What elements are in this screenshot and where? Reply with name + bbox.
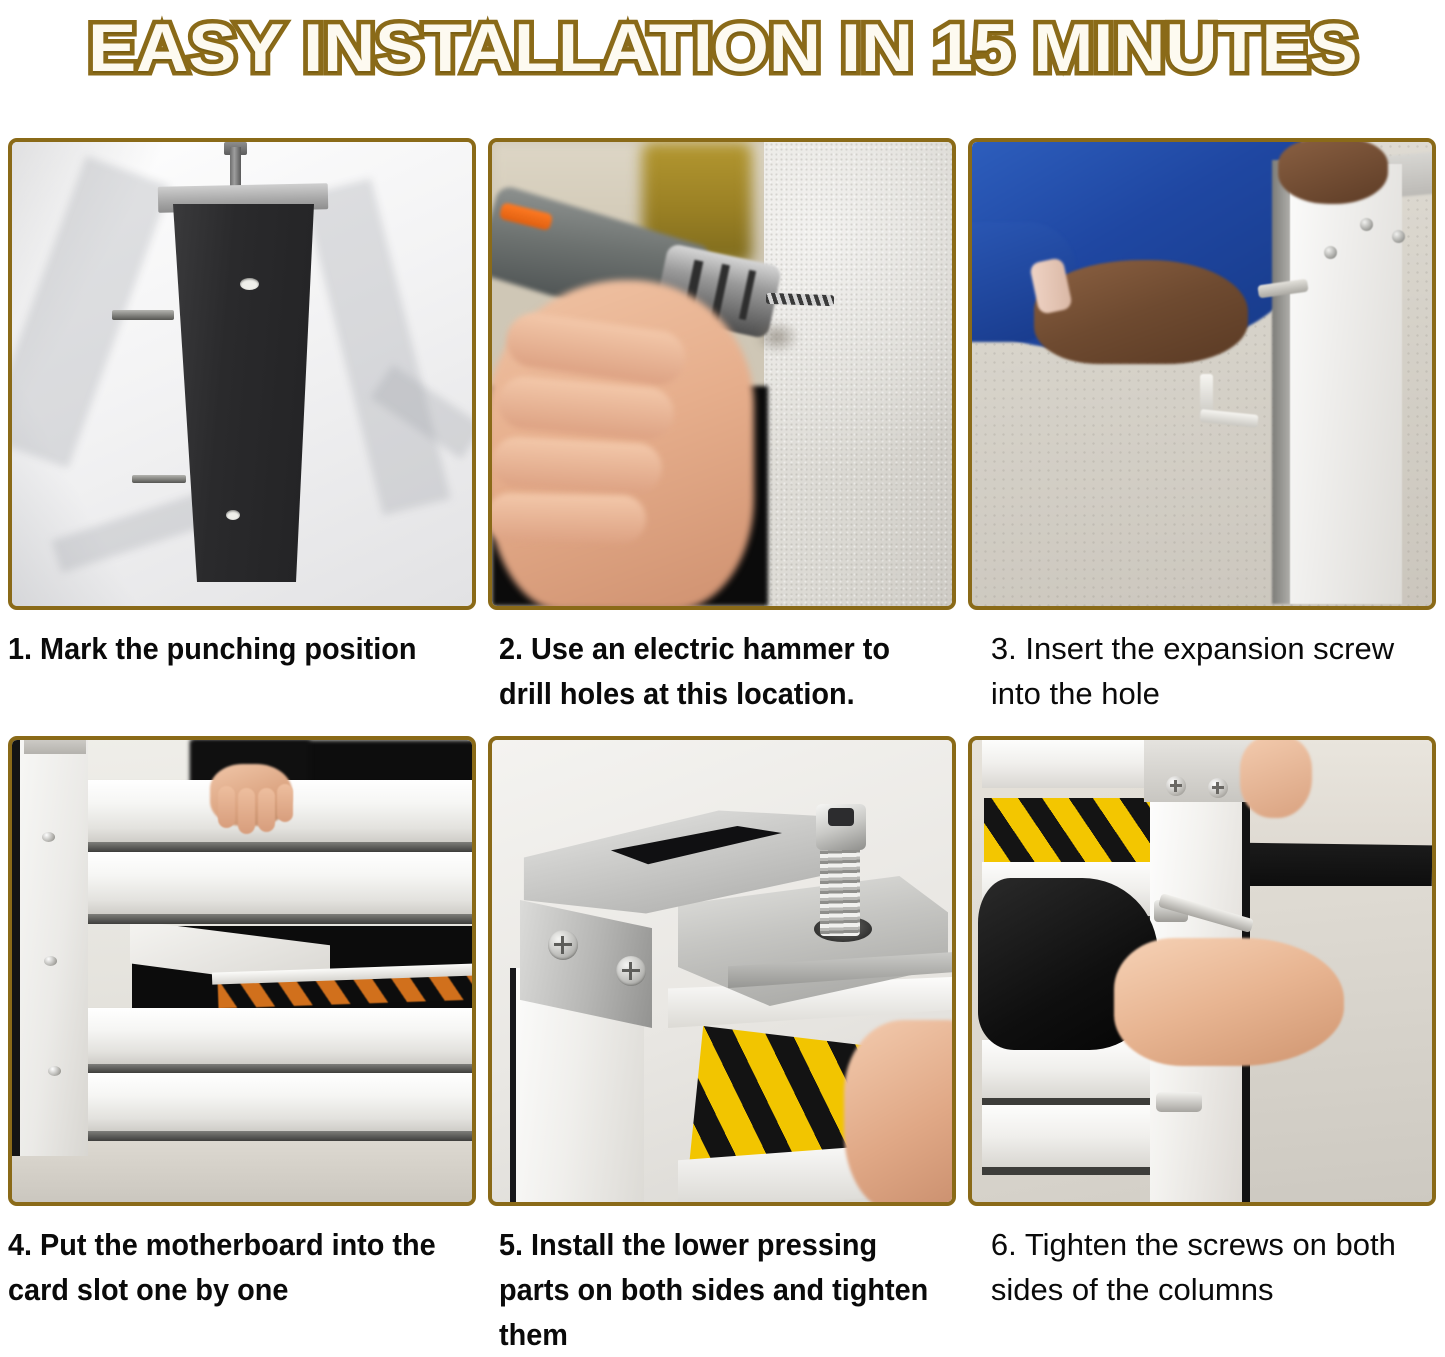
hex-socket — [828, 808, 854, 826]
column-top-bracket — [1144, 740, 1252, 802]
baseboard — [1234, 843, 1432, 890]
finger — [492, 436, 663, 495]
step-4-caption: 4. Put the motherboard into the card slo… — [8, 1206, 454, 1357]
captions-row-bottom: 4. Put the motherboard into the card slo… — [8, 1206, 1437, 1357]
side-bolt-lower — [132, 475, 186, 483]
step-5-photo-install-lower-pressing-parts — [492, 740, 952, 1202]
hand-supporting-part — [844, 1020, 952, 1202]
column-top-bracket — [24, 740, 86, 754]
drill-dust — [754, 320, 800, 354]
lower-bolt — [1156, 1092, 1202, 1112]
board-slot-gap — [78, 914, 472, 924]
step-1-photo-frame — [8, 138, 476, 610]
column-screw — [1324, 246, 1337, 259]
step-2-photo-drill-holes — [492, 142, 952, 606]
captions-row-top: 1. Mark the punching position 2. Use an … — [8, 610, 1437, 736]
step-5-photo-frame — [488, 736, 956, 1206]
drill-bit — [766, 293, 834, 306]
step-6-photo-tighten-column-screws — [972, 740, 1432, 1202]
board-slot-gap — [78, 1064, 472, 1073]
mounting-hole-upper — [240, 278, 259, 290]
board-slot-gap — [78, 1131, 472, 1141]
step-3-photo-insert-expansion-screw — [972, 142, 1432, 606]
column-screw — [1166, 776, 1186, 796]
side-bolt-upper — [112, 310, 174, 320]
board-plank — [982, 740, 1160, 788]
board-slot-gap — [78, 842, 472, 852]
steps-grid: 1. Mark the punching position 2. Use an … — [8, 138, 1437, 1357]
board-slot-gap — [982, 1167, 1160, 1175]
phillips-screw — [548, 930, 578, 960]
finger — [492, 493, 646, 544]
top-stud-shaft — [230, 147, 241, 189]
board-slot-gap — [982, 1098, 1160, 1105]
board-plank — [78, 852, 472, 914]
hazard-tape-yellow-black — [984, 798, 1152, 862]
hand-tightening-screws — [1114, 938, 1344, 1066]
step-1-photo-mark-punching-position — [12, 142, 472, 606]
second-hand — [1278, 142, 1388, 204]
phillips-screw — [616, 956, 646, 986]
step-6-cell — [968, 736, 1436, 1206]
allen-key — [1200, 374, 1262, 432]
step-2-photo-frame — [488, 138, 956, 610]
step-4-photo-frame — [8, 736, 476, 1206]
column-screw — [48, 1066, 61, 1076]
column-screw — [1360, 218, 1373, 231]
step-5-caption: 5. Install the lower pressing parts on b… — [499, 1206, 945, 1357]
step-3-caption: 3. Insert the expansion screw into the h… — [991, 610, 1437, 736]
finger — [258, 788, 275, 832]
step-6-photo-frame — [968, 736, 1436, 1206]
finger — [238, 788, 255, 834]
step-4-cell — [8, 736, 476, 1206]
board-plank — [982, 1105, 1160, 1167]
column-screw — [44, 956, 57, 966]
step-2-cell — [488, 138, 956, 610]
step-3-cell — [968, 138, 1436, 610]
finger — [277, 784, 293, 822]
board-plank — [78, 1073, 472, 1131]
steps-row-bottom — [8, 736, 1437, 1206]
installation-guide-page: EASY INSTALLATION IN 15 MINUTES — [0, 0, 1445, 1352]
white-column — [1290, 164, 1402, 604]
board-plank — [78, 1008, 472, 1064]
second-hand — [1240, 740, 1312, 818]
step-5-cell — [488, 736, 956, 1206]
step-4-photo-insert-boards-into-slots — [12, 740, 472, 1202]
step-6-caption: 6. Tighten the screws on both sides of t… — [991, 1206, 1437, 1357]
finger — [218, 786, 235, 828]
column-screw — [42, 832, 55, 842]
step-1-cell — [8, 138, 476, 610]
mounting-hole-lower — [226, 510, 240, 520]
column-screw — [1392, 230, 1405, 243]
white-column — [20, 740, 88, 1156]
page-title: EASY INSTALLATION IN 15 MINUTES — [88, 12, 1358, 84]
step-3-photo-frame — [968, 138, 1436, 610]
page-header: EASY INSTALLATION IN 15 MINUTES — [0, 0, 1445, 96]
column-screw — [1208, 778, 1228, 798]
textured-wall — [764, 142, 952, 606]
step-1-caption: 1. Mark the punching position — [8, 610, 454, 736]
step-2-caption: 2. Use an electric hammer to drill holes… — [499, 610, 945, 736]
steps-row-top — [8, 138, 1437, 610]
